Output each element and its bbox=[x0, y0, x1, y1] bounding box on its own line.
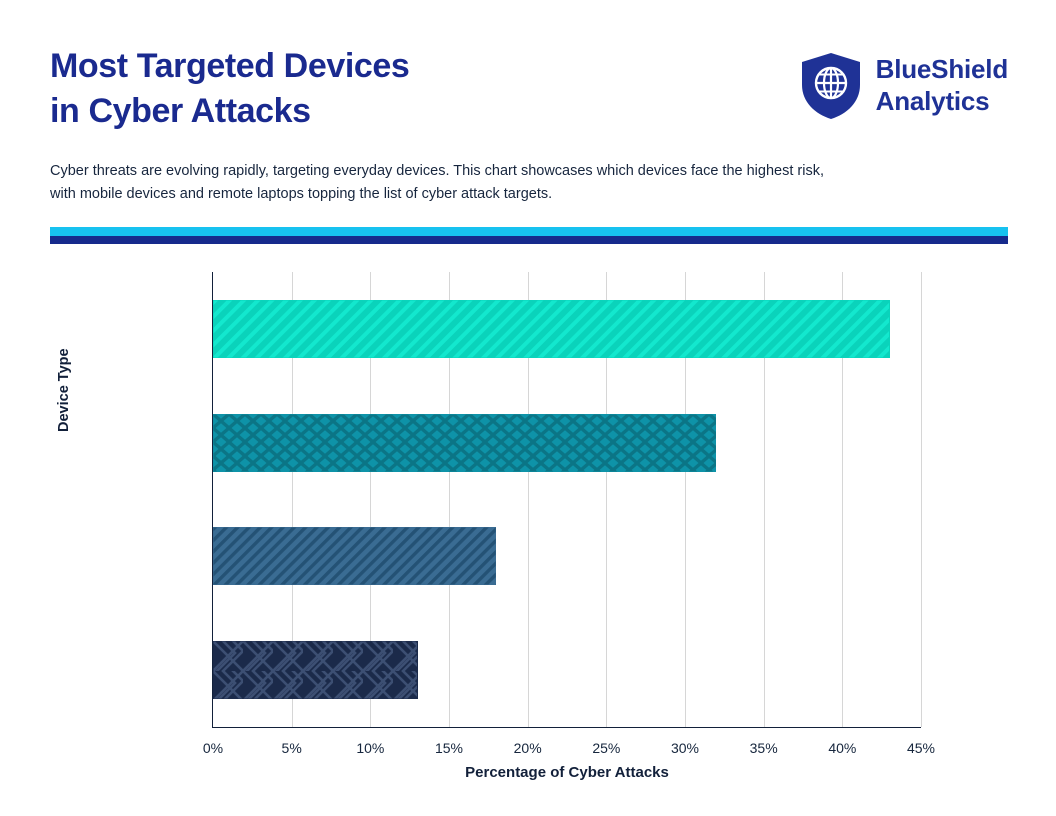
x-axis-tick-label: 0% bbox=[173, 740, 253, 756]
x-axis-tick-label: 30% bbox=[645, 740, 725, 756]
x-axis-tick-label: 15% bbox=[409, 740, 489, 756]
x-axis-tick-label: 35% bbox=[724, 740, 804, 756]
x-axis-tick-label: 20% bbox=[488, 740, 568, 756]
bar-direct-hacks[interactable] bbox=[213, 641, 418, 699]
x-axis-tick-label: 5% bbox=[252, 740, 332, 756]
bar-desktops[interactable] bbox=[213, 527, 496, 585]
x-axis-title: Percentage of Cyber Attacks bbox=[213, 764, 921, 781]
plot-area: 0%5%10%15%20%25%30%35%40%45%Mobile Devic… bbox=[212, 272, 921, 728]
bar-mobile-devices[interactable] bbox=[213, 300, 890, 358]
x-axis-tick-label: 10% bbox=[330, 740, 410, 756]
x-axis-tick-label: 25% bbox=[566, 740, 646, 756]
x-axis-tick-label: 40% bbox=[802, 740, 882, 756]
bar-chart: 0%5%10%15%20%25%30%35%40%45%Mobile Devic… bbox=[0, 0, 1056, 816]
x-axis-tick-label: 45% bbox=[881, 740, 961, 756]
gridline bbox=[921, 272, 922, 727]
y-axis-title: Device Type bbox=[56, 348, 72, 432]
bar-remote-laptops[interactable] bbox=[213, 414, 716, 472]
